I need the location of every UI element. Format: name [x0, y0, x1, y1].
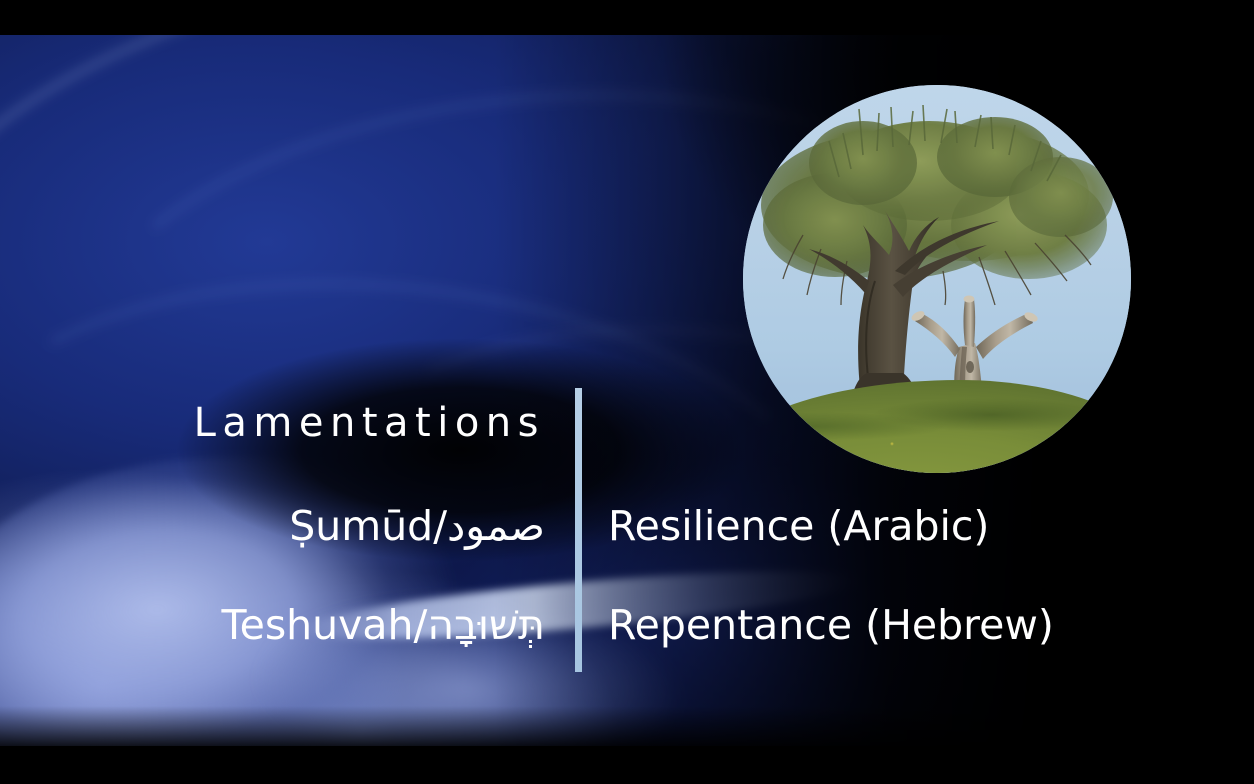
slide-canvas: Lamentations Ṣumūd/صمود Resilience (Arab… [0, 0, 1254, 784]
paint-shadow-bottom [0, 706, 1254, 746]
letterbox-bar-top [0, 0, 1254, 35]
letterbox-bar-bottom [0, 746, 1254, 784]
page-title: Lamentations [194, 400, 545, 446]
gloss-hebrew: Repentance (Hebrew) [608, 601, 1054, 649]
vertical-divider-rule [575, 388, 582, 672]
olive-tree-circular-photo [743, 85, 1131, 473]
term-arabic: Ṣumūd/صمود [289, 502, 545, 550]
gloss-arabic: Resilience (Arabic) [608, 502, 989, 550]
term-hebrew: Teshuvah/תְּשׁוּבָה [222, 601, 545, 649]
